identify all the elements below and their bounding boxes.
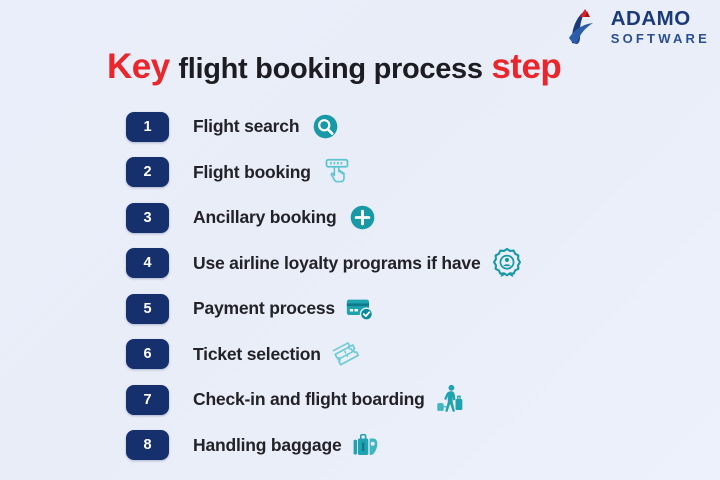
title-part-middle: flight booking process <box>178 53 482 85</box>
step-item-5: 5 Payment process <box>126 286 524 332</box>
title-part-step: step <box>491 47 561 86</box>
step-number-badge: 3 <box>126 203 169 233</box>
credit-card-check-icon <box>344 292 378 326</box>
step-item-2: 2 Flight booking <box>126 150 524 196</box>
title-part-key: Key <box>107 47 170 86</box>
steps-list: 1 Flight search 2 Flight booking <box>126 104 524 468</box>
plus-circle-icon <box>345 201 379 235</box>
step-item-6: 6 Ticket selection <box>126 332 524 378</box>
suitcases-icon <box>350 428 384 462</box>
step-number-badge: 4 <box>126 248 169 278</box>
traveler-luggage-icon <box>434 383 468 417</box>
search-circle-icon <box>308 110 342 144</box>
step-item-3: 3 Ancillary booking <box>126 195 524 241</box>
adamo-swoosh-logo-icon <box>566 6 604 46</box>
step-label: Handling baggage <box>193 435 341 456</box>
step-number-badge: 6 <box>126 339 169 369</box>
step-number-badge: 8 <box>126 430 169 460</box>
step-number-badge: 2 <box>126 157 169 187</box>
brand-logo: ADAMO SOFTWARE <box>566 6 710 46</box>
loyalty-award-badge-icon <box>490 246 524 280</box>
brand-subtitle: SOFTWARE <box>611 32 710 45</box>
step-label: Flight search <box>193 116 299 137</box>
step-number-badge: 5 <box>126 294 169 324</box>
step-item-1: 1 Flight search <box>126 104 524 150</box>
step-label: Use airline loyalty programs if have <box>193 253 481 274</box>
step-label: Flight booking <box>193 162 311 183</box>
step-label: Payment process <box>193 298 335 319</box>
infographic-slide: ADAMO SOFTWARE Key flight booking proces… <box>0 0 720 480</box>
step-item-7: 7 Check-in and flight boarding <box>126 377 524 423</box>
tickets-icon <box>330 337 364 371</box>
step-item-8: 8 Handling baggage <box>126 423 524 469</box>
page-title: Key flight booking process step <box>107 49 561 86</box>
step-item-4: 4 Use airline loyalty programs if have <box>126 241 524 287</box>
step-number-badge: 7 <box>126 385 169 415</box>
click-book-button-icon <box>320 155 354 189</box>
step-label: Ancillary booking <box>193 207 336 228</box>
brand-wordmark: ADAMO SOFTWARE <box>611 7 710 45</box>
step-label: Check-in and flight boarding <box>193 389 425 410</box>
step-label: Ticket selection <box>193 344 321 365</box>
brand-name: ADAMO <box>611 9 710 30</box>
step-number-badge: 1 <box>126 112 169 142</box>
